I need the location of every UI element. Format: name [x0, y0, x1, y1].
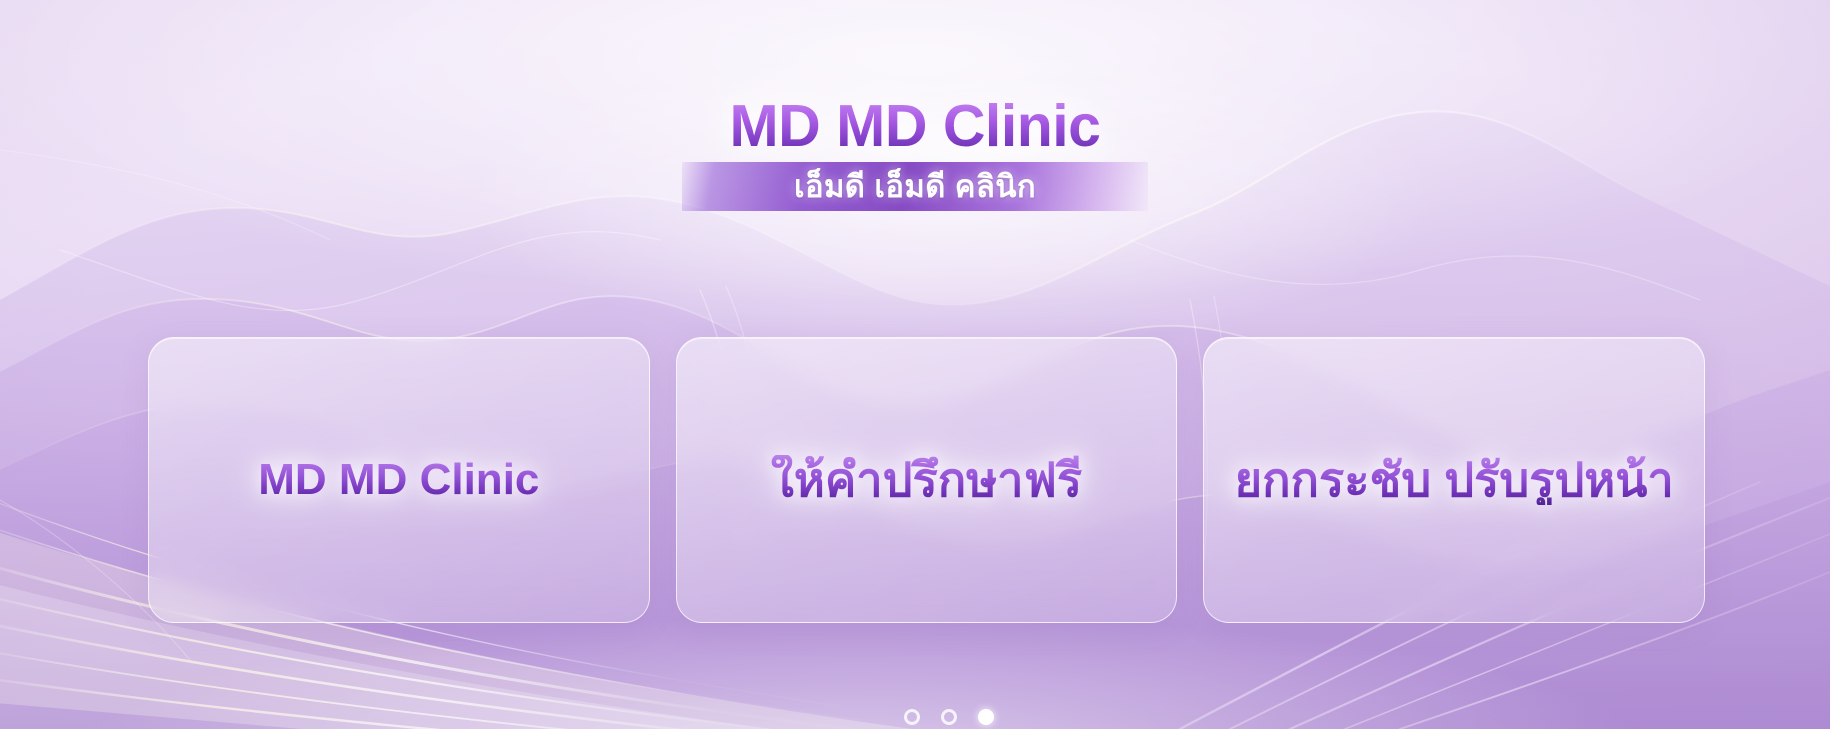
feature-card-clinic-name[interactable]: MD MD Clinic	[148, 337, 650, 623]
carousel-dot-3-active[interactable]	[978, 709, 994, 725]
subtitle-band: เอ็มดี เอ็มดี คลินิก	[682, 162, 1148, 211]
subtitle-text: เอ็มดี เอ็มดี คลินิก	[794, 171, 1036, 202]
feature-card-label: MD MD Clinic	[248, 457, 549, 503]
feature-card-list: MD MD Clinic ให้คำปรึกษาฟรี ยกกระชับ ปรั…	[148, 337, 1705, 623]
carousel-dot-1[interactable]	[904, 709, 920, 725]
banner-header: MD MD Clinic เอ็มดี เอ็มดี คลินิก	[0, 96, 1830, 211]
carousel-pagination	[0, 709, 1830, 725]
feature-card-label: ยกกระชับ ปรับรูปหน้า	[1225, 455, 1684, 504]
carousel-dot-2[interactable]	[941, 709, 957, 725]
feature-card-face-lifting[interactable]: ยกกระชับ ปรับรูปหน้า	[1203, 337, 1705, 623]
feature-card-free-consultation[interactable]: ให้คำปรึกษาฟรี	[676, 337, 1178, 623]
hero-banner: MD MD Clinic เอ็มดี เอ็มดี คลินิก MD MD …	[0, 0, 1830, 729]
page-title: MD MD Clinic	[730, 96, 1101, 156]
feature-card-label: ให้คำปรึกษาฟรี	[761, 455, 1092, 504]
